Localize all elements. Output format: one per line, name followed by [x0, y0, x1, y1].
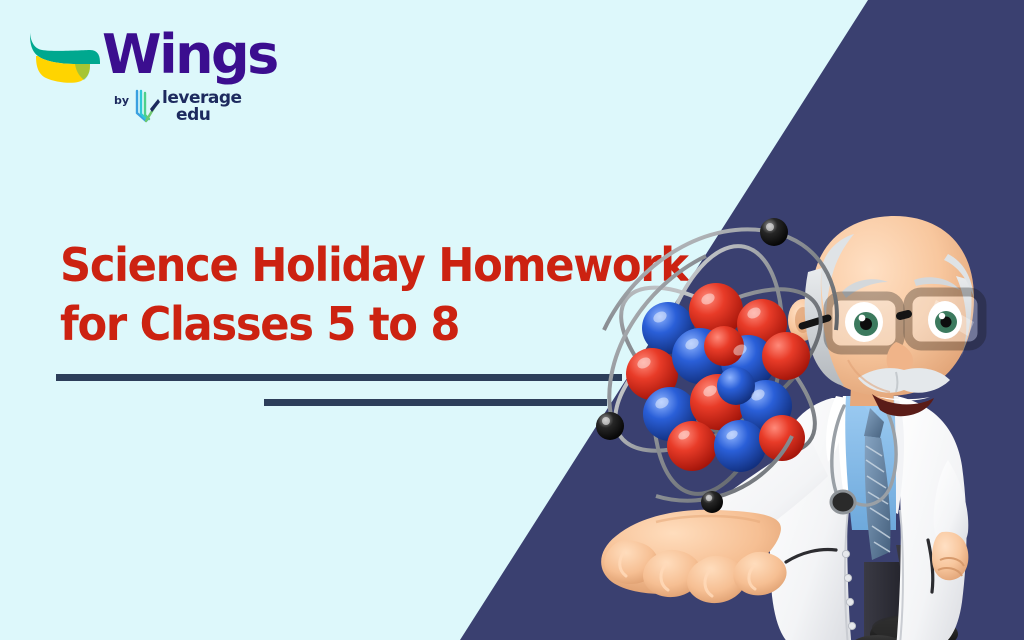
- banner-canvas: Wings by leverage edu Science Holiday Ho…: [0, 0, 1024, 640]
- leverage-edu-book-icon: [134, 89, 160, 123]
- wings-logo[interactable]: Wings by leverage edu: [28, 26, 243, 136]
- title-line-1: Science Holiday Homework: [60, 236, 680, 295]
- title-line-2: for Classes 5 to 8: [60, 295, 680, 354]
- logo-top-row: Wings: [28, 26, 243, 88]
- logo-brand-name: leverage edu: [162, 90, 242, 124]
- logo-subbrand: by leverage edu: [114, 86, 242, 124]
- page-title: Science Holiday Homework for Classes 5 t…: [60, 236, 680, 354]
- scientist-illustration: [596, 210, 1024, 640]
- scientist-head: [788, 216, 982, 416]
- title-underline-1: [56, 374, 622, 381]
- logo-wordmark: Wings: [102, 24, 277, 86]
- title-underline-2: [264, 399, 607, 406]
- logo-by-label: by: [114, 94, 129, 107]
- atom-nucleus: [626, 283, 810, 472]
- logo-brand-line2: edu: [176, 107, 242, 124]
